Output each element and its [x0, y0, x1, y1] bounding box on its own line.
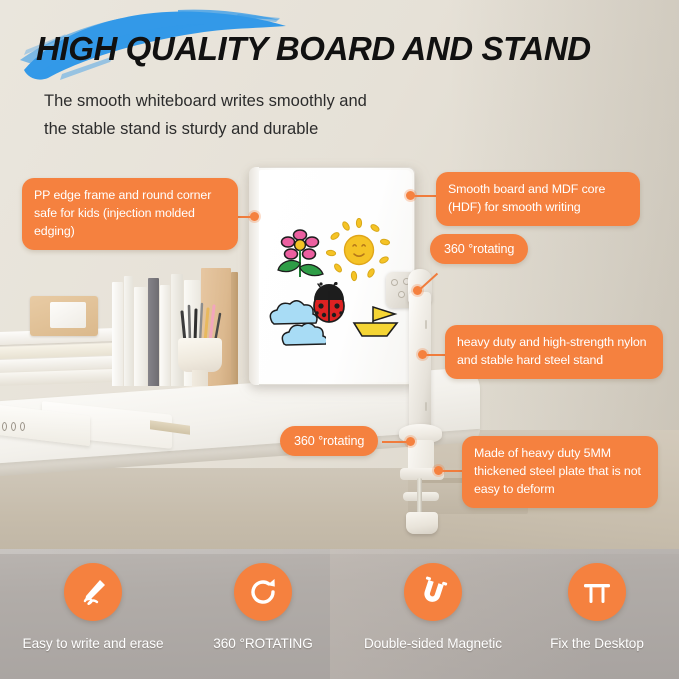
feature-label: Easy to write and erase: [8, 636, 178, 651]
page-title: HIGH QUALITY BOARD AND STAND: [36, 30, 591, 68]
stand-pole: [409, 292, 431, 430]
rotate-360-icon: [234, 563, 292, 621]
page-subtitle: The smooth whiteboard writes smoothly an…: [44, 88, 367, 143]
feature-label: Fix the Desktop: [512, 636, 679, 651]
feature-bar: Easy to write and erase 360 °ROTATING Do…: [0, 549, 679, 679]
feature-label: 360 °ROTATING: [178, 636, 348, 651]
callout-heavy-duty-nylon[interactable]: heavy duty and high-strength nylon and s…: [445, 325, 663, 379]
anchor-dot-rotating-top: [413, 286, 422, 295]
pencil-cup: [178, 338, 222, 372]
magnet-icon: [404, 563, 462, 621]
subtitle-line-1: The smooth whiteboard writes smoothly an…: [44, 88, 367, 116]
anchor-dot-heavy-duty-nylon: [418, 350, 427, 359]
feature-item-fix-desktop[interactable]: Fix the Desktop: [512, 563, 679, 651]
flower-doodle: [270, 225, 330, 281]
desk-clamp-screw: [417, 478, 422, 516]
desk-clamp-icon: [568, 563, 626, 621]
sun-doodle: [326, 218, 392, 284]
callout-rotating-top[interactable]: 360 °rotating: [430, 234, 528, 264]
subtitle-line-2: the stable stand is sturdy and durable: [44, 116, 367, 144]
lead-line-smooth-board: [412, 195, 438, 197]
pen-write-icon: [64, 563, 122, 621]
feature-item-write-erase[interactable]: Easy to write and erase: [8, 563, 178, 651]
feature-label: Double-sided Magnetic: [348, 636, 518, 651]
anchor-dot-pp-edge-frame: [250, 212, 259, 221]
feature-item-rotating[interactable]: 360 °ROTATING: [178, 563, 348, 651]
callout-steel-plate[interactable]: Made of heavy duty 5MM thickened steel p…: [462, 436, 658, 508]
whiteboard-edge-frame: [249, 167, 259, 385]
boat-doodle: [349, 305, 401, 341]
desk-clamp-knob: [406, 512, 438, 534]
feature-item-magnetic[interactable]: Double-sided Magnetic: [348, 563, 518, 651]
callout-smooth-board[interactable]: Smooth board and MDF core (HDF) for smoo…: [436, 172, 640, 226]
callout-pp-edge-frame[interactable]: PP edge frame and round corner safe for …: [22, 178, 238, 250]
notebook-rings: [2, 422, 28, 434]
photo-frame-inner: [50, 302, 86, 328]
callout-rotating-base[interactable]: 360 °rotating: [280, 426, 378, 456]
cloud-doodle: [264, 300, 326, 350]
anchor-dot-smooth-board: [406, 191, 415, 200]
anchor-dot-rotating-base: [406, 437, 415, 446]
anchor-dot-steel-plate: [434, 466, 443, 475]
product-infographic: HIGH QUALITY BOARD AND STAND The smooth …: [0, 0, 679, 679]
